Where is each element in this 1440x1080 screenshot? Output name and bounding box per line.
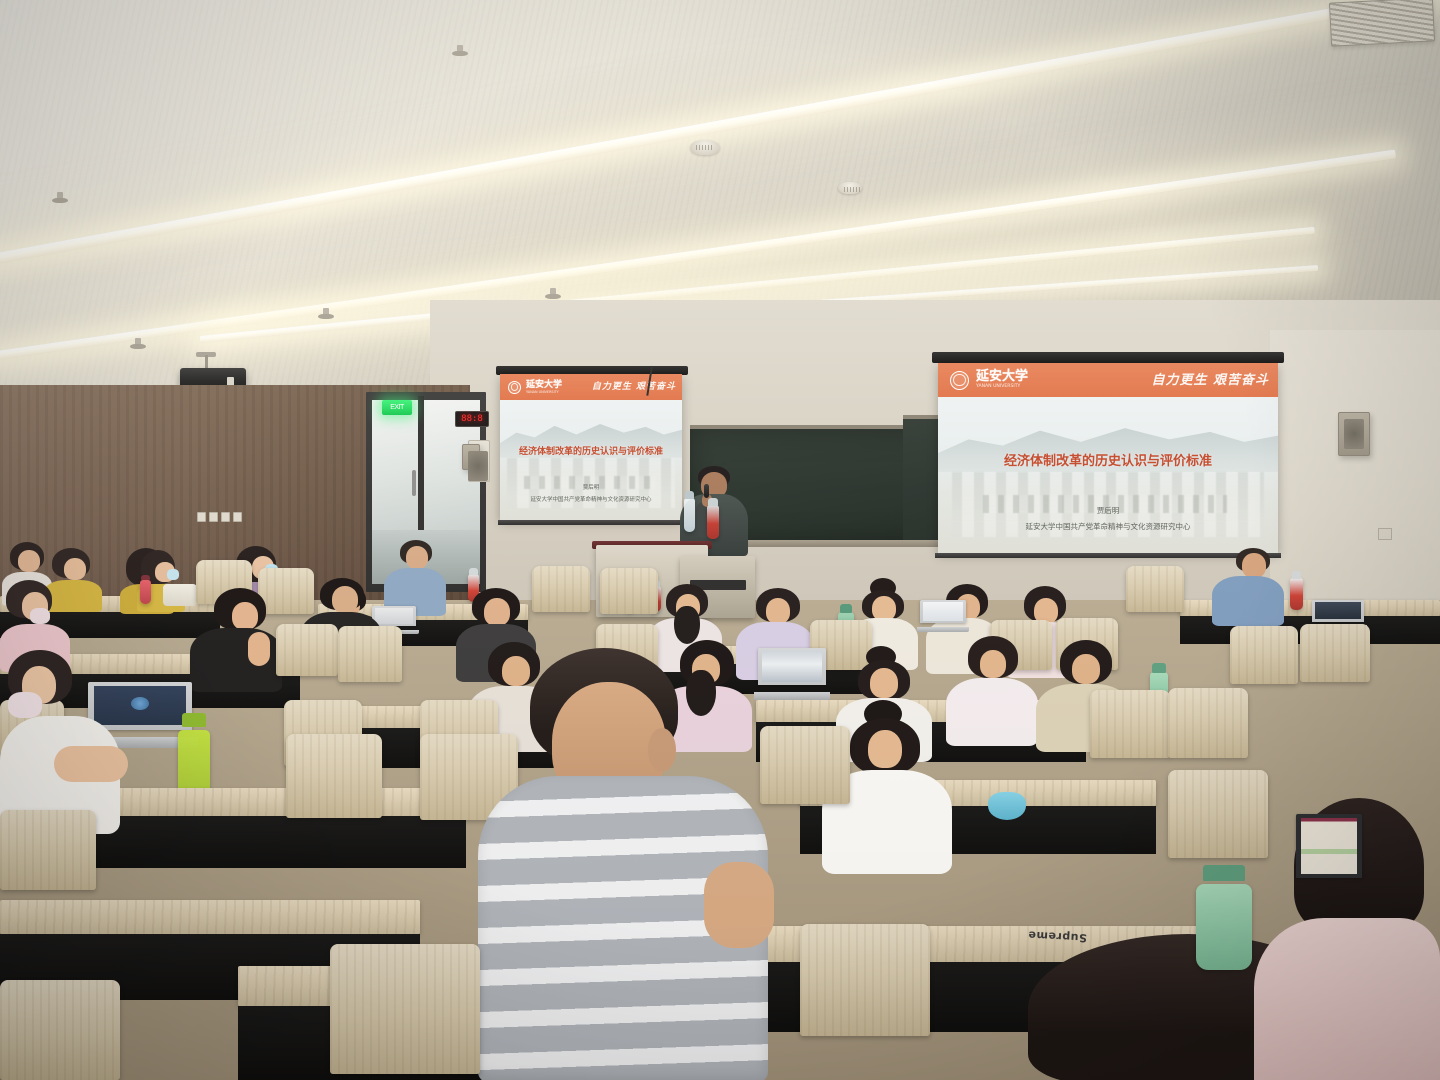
- head: [332, 586, 358, 613]
- screen-logo: [131, 697, 149, 710]
- bottle-cap: [182, 713, 206, 727]
- torso: [946, 678, 1038, 746]
- chair-back: [532, 566, 590, 612]
- slide-title: 经济体制改革的历史认识与评价标准: [500, 444, 682, 457]
- laptop-lid: [920, 600, 966, 623]
- fire-sprinkler: [452, 45, 468, 60]
- handheld-microphone-icon: [704, 484, 709, 498]
- head: [870, 668, 898, 698]
- head: [980, 650, 1006, 678]
- exit-sign-label: EXIT: [390, 404, 404, 411]
- bottle-cap: [1203, 865, 1246, 880]
- laptop[interactable]: [758, 648, 826, 700]
- laptop-base: [917, 627, 969, 632]
- head: [766, 598, 790, 624]
- chair-back: [1230, 626, 1298, 684]
- head: [868, 730, 902, 768]
- chair-back: [1168, 770, 1268, 858]
- bottle-cap: [840, 604, 852, 613]
- chair-back: [1168, 688, 1248, 758]
- chair-back: [276, 624, 338, 676]
- torso: [1254, 918, 1440, 1080]
- projection-screen-left: 延安大学 YANAN UNIVERSITY 自力更生 艰苦奋斗 经济体制改革的历…: [500, 370, 682, 530]
- laptop-lid: [758, 648, 826, 685]
- audience-member: [946, 636, 1038, 742]
- university-logo-icon: [950, 371, 969, 390]
- arm: [54, 746, 128, 782]
- ear: [648, 728, 676, 772]
- slide-organization: 延安大学中国共产党革命精神与文化资源研究中心: [938, 521, 1278, 532]
- water-bottle: [707, 505, 719, 539]
- fire-sprinkler: [130, 338, 146, 353]
- face-mask: [30, 608, 50, 624]
- smoke-detector: [690, 140, 720, 155]
- university-name-zh: 延安大学: [976, 370, 1028, 384]
- desk: [0, 900, 420, 934]
- laptop-lid: [1312, 600, 1364, 622]
- projection-screen-right: 延安大学 YANAN UNIVERSITY 自力更生 艰苦奋斗 经济体制改革的历…: [938, 358, 1278, 563]
- lecture-hall-photo: EXIT 88:8 延安大学 YANAN UNIVERSITY 自力更生 艰苦奋…: [0, 0, 1440, 1080]
- face-mask: [167, 569, 179, 580]
- fire-sprinkler: [318, 308, 334, 323]
- power-outlet[interactable]: [233, 512, 242, 522]
- water-bottle: [1290, 578, 1303, 610]
- university-name-zh: 延安大学: [526, 380, 562, 390]
- chair-back: [800, 924, 930, 1036]
- head: [406, 546, 428, 569]
- head: [232, 602, 258, 630]
- head: [64, 558, 86, 580]
- laptop[interactable]: [1296, 814, 1362, 878]
- audience-member: [0, 650, 120, 830]
- bottle-cap: [1152, 663, 1166, 673]
- slide-body: 经济体制改革的历史认识与评价标准 贾后明 延安大学中国共产党革命精神与文化资源研…: [500, 400, 682, 520]
- foreground-student: [468, 648, 768, 1080]
- bottle-cap: [1292, 571, 1302, 579]
- audience-member: [384, 540, 446, 612]
- ponytail: [674, 606, 700, 644]
- led-display-panel: 88:8: [455, 411, 489, 427]
- chair-back: [330, 944, 480, 1074]
- desk: [86, 788, 466, 816]
- university-name-en: YANAN UNIVERSITY: [526, 390, 562, 395]
- chair-back: [1300, 624, 1370, 682]
- head: [1072, 654, 1100, 684]
- chair-back: [0, 980, 120, 1080]
- wall-speaker: [1338, 412, 1370, 456]
- desk-front-panel: [86, 816, 466, 868]
- face-mask: [8, 692, 42, 718]
- wall-plate: [1378, 528, 1392, 540]
- air-vent: [1329, 0, 1435, 47]
- slide-header-band: 延安大学 YANAN UNIVERSITY 自力更生 艰苦奋斗: [500, 374, 682, 400]
- laptop[interactable]: [920, 600, 966, 632]
- audience-member: [190, 588, 282, 688]
- chair-back: [286, 734, 382, 818]
- slide-author: 贾后明: [938, 505, 1278, 516]
- bottle-cap: [685, 491, 693, 499]
- laptop-screen: [1301, 818, 1358, 874]
- wall-speaker: [462, 444, 480, 470]
- slide-right: 延安大学 YANAN UNIVERSITY 自力更生 艰苦奋斗 经济体制改革的历…: [938, 363, 1278, 553]
- bottle-cap: [469, 568, 477, 575]
- arm: [248, 632, 270, 666]
- power-outlet[interactable]: [197, 512, 206, 522]
- slide-body: 经济体制改革的历史认识与评价标准 贾后明 延安大学中国共产党革命精神与文化资源研…: [938, 397, 1278, 553]
- slide-left: 延安大学 YANAN UNIVERSITY 自力更生 艰苦奋斗 经济体制改革的历…: [500, 374, 682, 520]
- smoke-detector: [838, 182, 862, 194]
- door-handle[interactable]: [412, 470, 416, 496]
- power-outlet[interactable]: [221, 512, 230, 522]
- water-bottle: [684, 498, 695, 532]
- water-bottle: [140, 580, 151, 604]
- exit-sign: EXIT: [382, 400, 412, 415]
- chair-back: [760, 726, 850, 804]
- head: [18, 550, 40, 572]
- audience-member: [1212, 548, 1284, 622]
- head: [484, 598, 510, 626]
- slide-organization: 延安大学中国共产党革命精神与文化资源研究中心: [500, 495, 682, 503]
- screen-case: [932, 352, 1284, 363]
- slide-author: 贾后明: [500, 483, 682, 491]
- head: [1242, 553, 1266, 578]
- chair-back: [0, 810, 96, 890]
- chair-back: [338, 626, 402, 682]
- university-logo-icon: [508, 381, 521, 394]
- power-outlet[interactable]: [209, 512, 218, 522]
- torso: [1212, 576, 1284, 626]
- bottle-cap: [141, 575, 149, 581]
- chair-back: [1126, 566, 1184, 612]
- face-mask: [988, 792, 1026, 820]
- laptop-screen: [1315, 602, 1361, 620]
- slide-title: 经济体制改革的历史认识与评价标准: [938, 450, 1278, 469]
- slide-header-band: 延安大学 YANAN UNIVERSITY 自力更生 艰苦奋斗: [938, 363, 1278, 397]
- arm: [704, 862, 774, 948]
- laptop-screen: [923, 602, 963, 621]
- calligraphy-motto: 自力更生 艰苦奋斗: [1151, 369, 1269, 388]
- fire-sprinkler: [52, 192, 68, 207]
- calligraphy-motto: 自力更生 艰苦奋斗: [592, 379, 676, 392]
- water-bottle: [1196, 884, 1252, 970]
- university-name-en: YANAN UNIVERSITY: [976, 384, 1028, 390]
- led-display-value: 88:8: [461, 414, 483, 424]
- laptop-lid: [1296, 814, 1362, 878]
- projector-mount: [205, 355, 208, 369]
- bottle-cap: [708, 498, 717, 506]
- chair-back: [1090, 690, 1170, 758]
- screen-bottom-bar: [498, 520, 684, 525]
- laptop-screen: [762, 651, 822, 682]
